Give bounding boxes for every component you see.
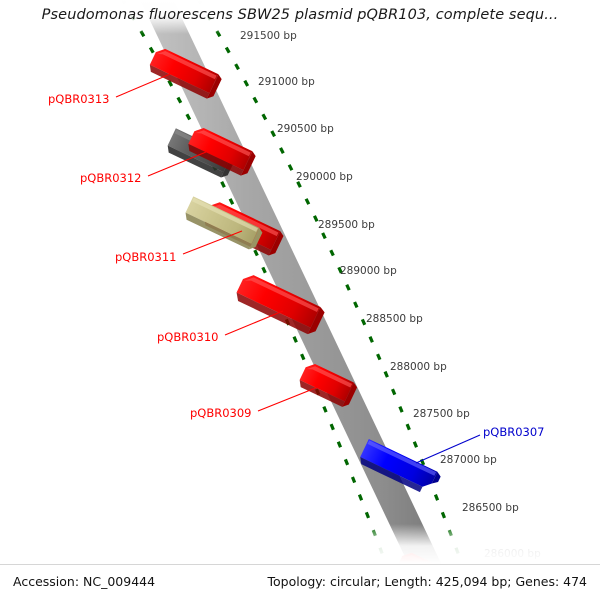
- status-bar: Accession: NC_009444 Topology: circular;…: [0, 564, 600, 600]
- ruler-tick-label: 286000 bp: [484, 549, 541, 560]
- gene-label-pQBR0312[interactable]: pQBR0312: [80, 173, 142, 185]
- ruler-tick-label: 287000 bp: [440, 455, 497, 466]
- ruler-tick-label: 287500 bp: [413, 409, 470, 420]
- ruler-tick-label: 289500 bp: [318, 220, 375, 231]
- gene-label-pQBR0310[interactable]: pQBR0310: [157, 332, 219, 344]
- ruler-tick-label: 290000 bp: [296, 172, 353, 183]
- ruler-tick-label: 290500 bp: [277, 124, 334, 135]
- status-accession: Accession: NC_009444: [13, 574, 155, 589]
- ruler-tick-label: 291000 bp: [258, 77, 315, 88]
- gene-label-pQBR0307[interactable]: pQBR0307: [483, 427, 545, 439]
- ruler-tick-label: 291500 bp: [240, 31, 297, 42]
- genome-viewer-window: 291500 bp291000 bp290500 bp290000 bp2895…: [0, 0, 600, 600]
- status-summary: Topology: circular; Length: 425,094 bp; …: [268, 574, 588, 589]
- ruler-tick-label: 288500 bp: [366, 314, 423, 325]
- gene-label-pQBR0309[interactable]: pQBR0309: [190, 408, 252, 420]
- ruler-tick-label: 288000 bp: [390, 362, 447, 373]
- gene-label-pQBR0311[interactable]: pQBR0311: [115, 252, 177, 264]
- ruler-tick-label: 286500 bp: [462, 503, 519, 514]
- status-bar-divider: [0, 564, 600, 565]
- labels-layer: 291500 bp291000 bp290500 bp290000 bp2895…: [0, 0, 600, 600]
- ruler-tick-label: 289000 bp: [340, 266, 397, 277]
- gene-label-pQBR0313[interactable]: pQBR0313: [48, 94, 110, 106]
